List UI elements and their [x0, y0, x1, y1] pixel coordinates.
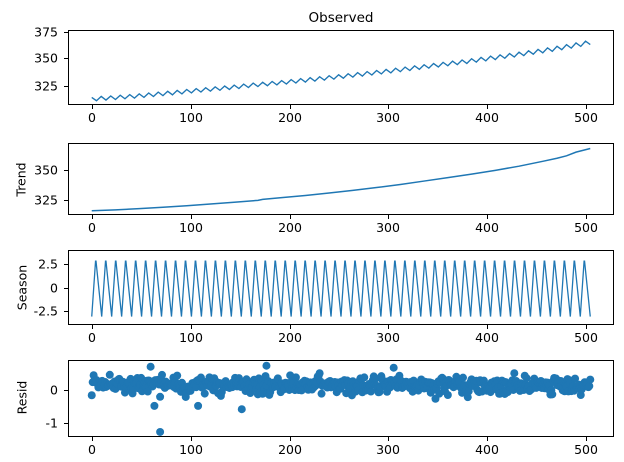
- tickmark-trend-350: [64, 170, 68, 171]
- resid-outlier-point: [194, 402, 202, 410]
- xtick-resid-400: 400: [475, 442, 499, 457]
- xtick-trend-500: 500: [574, 220, 598, 235]
- tickmark-x-resid-0: [92, 437, 93, 441]
- resid-point: [548, 390, 556, 398]
- tickmark-x-observed-100: [191, 105, 192, 109]
- xtick-trend-0: 0: [88, 220, 96, 235]
- resid-point: [316, 369, 324, 377]
- ytick-season-2-5: 2.5: [8, 257, 58, 272]
- resid-point: [106, 371, 114, 379]
- xtick-season-400: 400: [475, 330, 499, 345]
- ytick-trend-325: 325: [8, 193, 58, 208]
- resid-point: [586, 376, 594, 384]
- xtick-observed-100: 100: [179, 110, 203, 125]
- xtick-season-200: 200: [278, 330, 302, 345]
- resid-outlier-point: [156, 428, 164, 436]
- tickmark-x-season-300: [388, 325, 389, 329]
- ytick-season-neg2-5: -2.5: [8, 304, 58, 319]
- tickmark-season-neg2-5: [64, 311, 68, 312]
- tickmark-observed-375: [64, 32, 68, 33]
- resid-point: [158, 371, 166, 379]
- tickmark-x-trend-200: [290, 215, 291, 219]
- tickmark-x-resid-200: [290, 437, 291, 441]
- ytick-observed-325: 325: [8, 79, 58, 94]
- tickmark-x-trend-300: [388, 215, 389, 219]
- tickmark-x-observed-0: [92, 105, 93, 109]
- tickmark-x-resid-100: [191, 437, 192, 441]
- resid-scatter-series: [68, 360, 614, 437]
- tickmark-x-observed-400: [487, 105, 488, 109]
- panel-trend: [68, 143, 614, 215]
- xtick-observed-400: 400: [475, 110, 499, 125]
- xtick-trend-100: 100: [179, 220, 203, 235]
- tickmark-x-observed-300: [388, 105, 389, 109]
- trend-line-series: [68, 143, 614, 215]
- tickmark-x-observed-500: [586, 105, 587, 109]
- xtick-trend-400: 400: [475, 220, 499, 235]
- ytick-observed-375: 375: [8, 25, 58, 40]
- xtick-season-0: 0: [88, 330, 96, 345]
- tickmark-season-0-0: [64, 288, 68, 289]
- resid-outlier-point: [262, 362, 270, 370]
- panel-resid: [68, 360, 614, 437]
- resid-outlier-point: [147, 363, 155, 371]
- tickmark-x-season-100: [191, 325, 192, 329]
- tickmark-x-observed-200: [290, 105, 291, 109]
- xtick-trend-300: 300: [376, 220, 400, 235]
- resid-point: [459, 374, 467, 382]
- resid-point: [444, 391, 452, 399]
- resid-point: [88, 391, 96, 399]
- ytick-observed-350: 350: [8, 51, 58, 66]
- tickmark-x-resid-400: [487, 437, 488, 441]
- tickmark-x-resid-300: [388, 437, 389, 441]
- tickmark-observed-325: [64, 86, 68, 87]
- season-line-series: [68, 250, 614, 325]
- xtick-resid-300: 300: [376, 442, 400, 457]
- tickmark-season-2-5: [64, 264, 68, 265]
- resid-point: [510, 369, 518, 377]
- xtick-observed-300: 300: [376, 110, 400, 125]
- resid-outlier-point: [238, 405, 246, 413]
- tickmark-x-trend-0: [92, 215, 93, 219]
- tickmark-trend-325: [64, 200, 68, 201]
- observed-line-series: [68, 30, 614, 105]
- xtick-observed-200: 200: [278, 110, 302, 125]
- resid-point: [318, 390, 326, 398]
- xtick-resid-200: 200: [278, 442, 302, 457]
- resid-point: [360, 373, 368, 381]
- resid-point: [173, 372, 181, 380]
- tickmark-resid-0: [64, 390, 68, 391]
- xtick-season-100: 100: [179, 330, 203, 345]
- xtick-trend-200: 200: [278, 220, 302, 235]
- page-title: Observed: [68, 10, 614, 26]
- resid-point: [292, 373, 300, 381]
- resid-outlier-point: [390, 364, 398, 372]
- panel-observed: [68, 30, 614, 105]
- tickmark-x-resid-500: [586, 437, 587, 441]
- xtick-resid-100: 100: [179, 442, 203, 457]
- xtick-resid-0: 0: [88, 442, 96, 457]
- xtick-observed-500: 500: [574, 110, 598, 125]
- tickmark-observed-350: [64, 58, 68, 59]
- xtick-observed-0: 0: [88, 110, 96, 125]
- ytick-resid-0: 0: [8, 383, 58, 398]
- tickmark-x-season-400: [487, 325, 488, 329]
- resid-outlier-point: [150, 402, 158, 410]
- ytick-season-0-0: 0: [8, 281, 58, 296]
- xtick-resid-500: 500: [574, 442, 598, 457]
- tickmark-x-trend-500: [586, 215, 587, 219]
- tickmark-resid-neg1: [64, 423, 68, 424]
- tickmark-x-season-0: [92, 325, 93, 329]
- resid-point: [201, 390, 209, 398]
- tickmark-x-trend-400: [487, 215, 488, 219]
- seasonal-decomposition-figure: Observed 375 350 325 0 100 200 300 400 5…: [0, 0, 624, 462]
- xtick-season-300: 300: [376, 330, 400, 345]
- tickmark-x-season-500: [586, 325, 587, 329]
- panel-season: [68, 250, 614, 325]
- tickmark-x-season-200: [290, 325, 291, 329]
- ytick-resid-neg1: -1: [8, 416, 58, 431]
- ytick-trend-350: 350: [8, 163, 58, 178]
- tickmark-x-trend-100: [191, 215, 192, 219]
- resid-point: [156, 393, 164, 401]
- xtick-season-500: 500: [574, 330, 598, 345]
